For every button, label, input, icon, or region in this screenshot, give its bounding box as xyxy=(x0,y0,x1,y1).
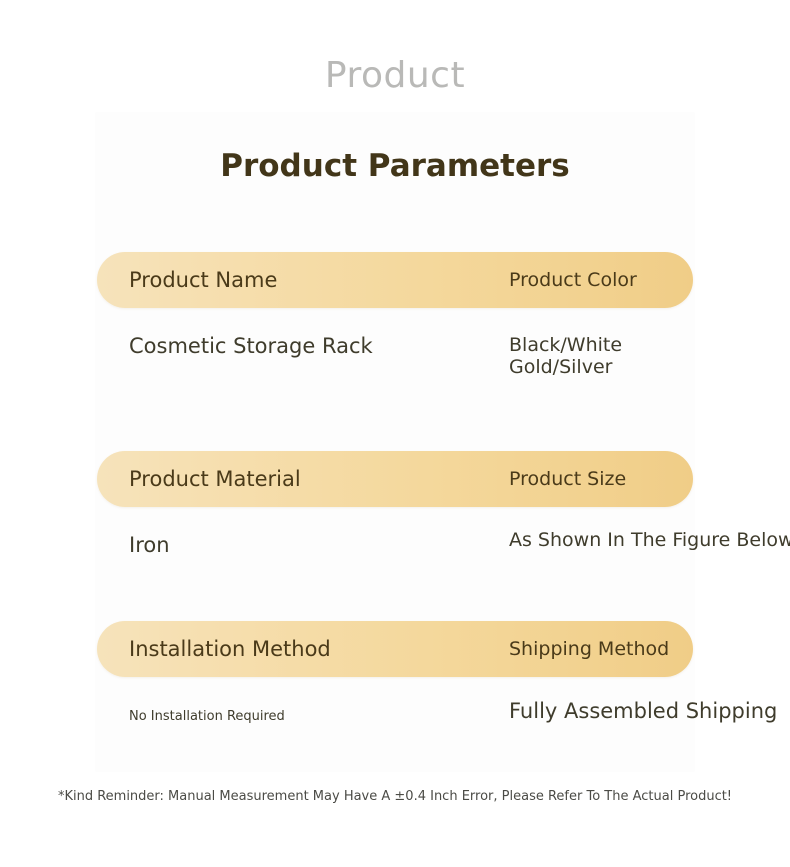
page-title: Product Parameters xyxy=(0,148,790,184)
parameter-label-left: Product Name xyxy=(129,252,277,308)
parameter-value-left: No Installation Required xyxy=(129,709,285,724)
parameter-header-pill: Product Name Product Color xyxy=(97,252,693,308)
parameter-row: Product Material Product Size Iron As Sh… xyxy=(97,451,693,603)
parameter-row: Product Name Product Color Cosmetic Stor… xyxy=(97,252,693,404)
parameter-values: Cosmetic Storage Rack Black/White Gold/S… xyxy=(97,308,693,404)
parameter-value-left: Cosmetic Storage Rack xyxy=(129,334,373,358)
parameter-label-right: Product Size xyxy=(509,451,626,507)
parameter-row: Installation Method Shipping Method No I… xyxy=(97,621,693,773)
measurement-disclaimer: *Kind Reminder: Manual Measurement May H… xyxy=(0,789,790,804)
parameter-value-left: Iron xyxy=(129,533,170,557)
parameter-label-left: Installation Method xyxy=(129,621,331,677)
watermark-title: Product xyxy=(0,55,790,96)
parameter-value-right: As Shown In The Figure Below xyxy=(509,529,790,551)
parameter-value-right: Fully Assembled Shipping xyxy=(509,699,777,723)
parameter-label-right: Product Color xyxy=(509,252,637,308)
parameter-values: Iron As Shown In The Figure Below xyxy=(97,507,693,603)
parameter-label-right: Shipping Method xyxy=(509,621,669,677)
parameter-header-pill: Installation Method Shipping Method xyxy=(97,621,693,677)
parameter-values: No Installation Required Fully Assembled… xyxy=(97,677,693,773)
parameter-label-left: Product Material xyxy=(129,451,301,507)
parameter-header-pill: Product Material Product Size xyxy=(97,451,693,507)
parameter-value-right: Black/White Gold/Silver xyxy=(509,334,611,379)
